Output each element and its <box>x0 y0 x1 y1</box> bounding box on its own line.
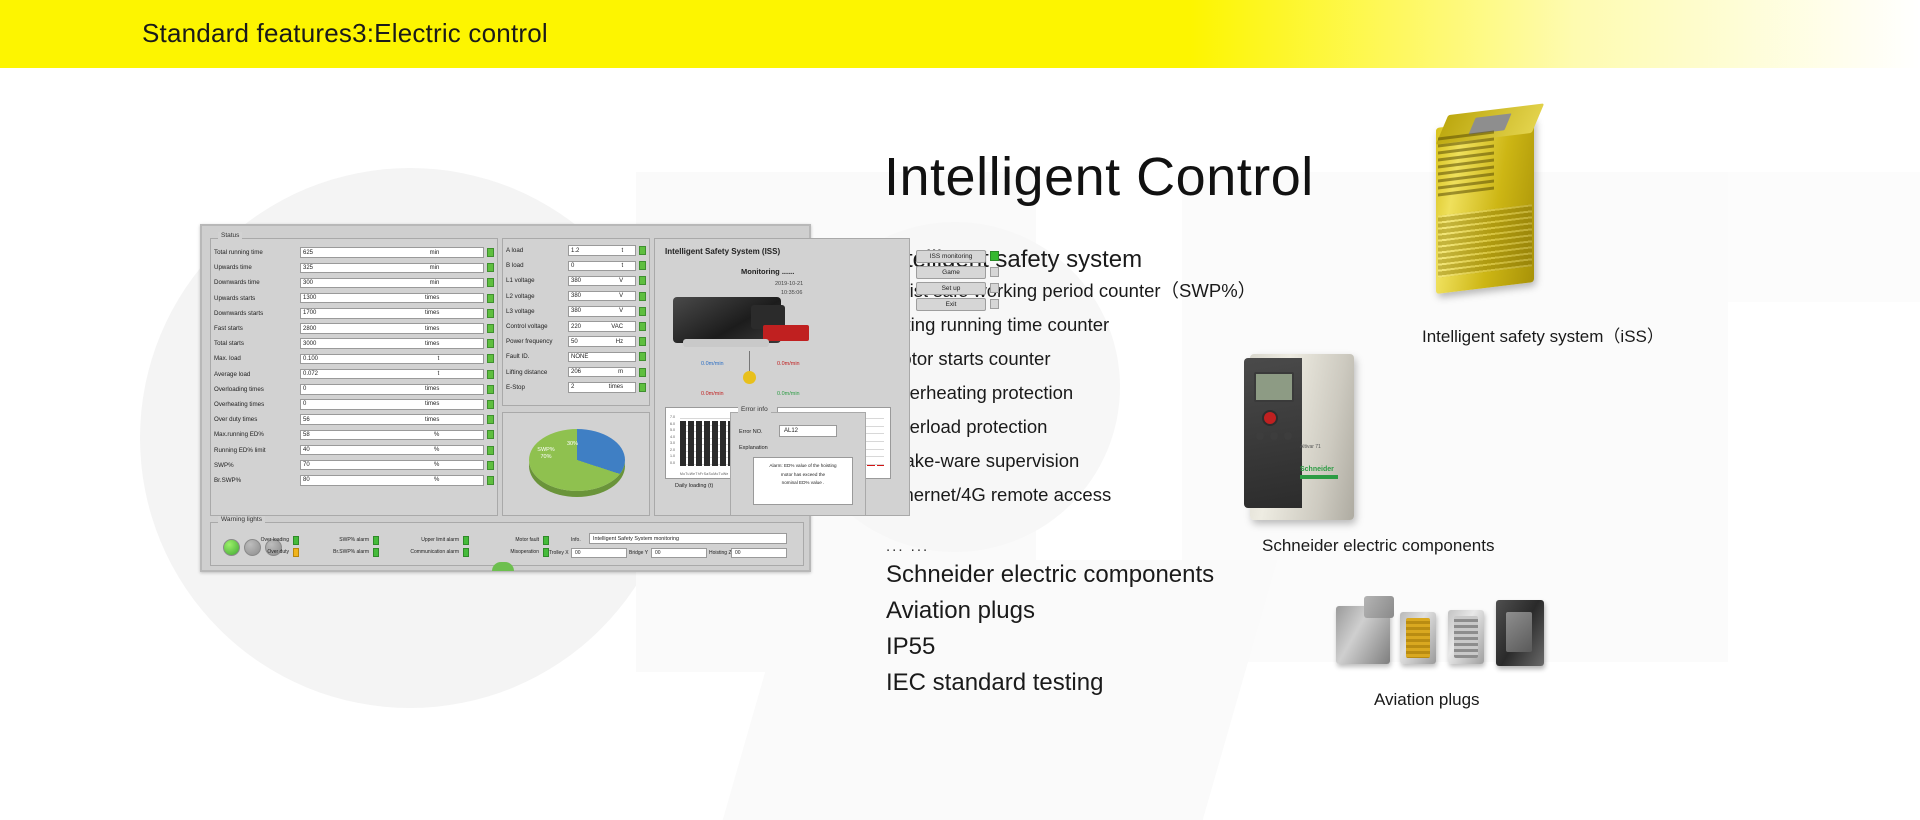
hmi-panel: Status Total running time625minUpwards t… <box>200 224 811 572</box>
caption-schneider: Schneider electric components <box>1262 536 1494 556</box>
spec-item: IEC standard testing <box>886 671 1214 695</box>
error-explanation-line: Alarm: ED% value of the hoisting <box>758 462 848 471</box>
status-row: E-Stop2times <box>506 380 646 395</box>
status-value[interactable]: 3000times <box>300 338 484 349</box>
status-value-text: 300 <box>303 280 313 286</box>
error-no-value[interactable]: AL12 <box>779 425 837 437</box>
warning-group-label: Warning lights <box>218 516 265 523</box>
status-unit: Hz <box>616 339 623 345</box>
status-value[interactable]: 0times <box>300 384 484 395</box>
speed-up-right: 0.0m/min <box>777 361 800 367</box>
status-label: Control voltage <box>506 323 568 330</box>
status-label: Power frequency <box>506 338 568 345</box>
status-value-text: 1.2 <box>571 248 579 254</box>
status-value-text: 380 <box>571 308 581 314</box>
plug-4-insert <box>1506 612 1532 652</box>
vfd-brand-text: Schneider <box>1300 466 1334 473</box>
status-label: Average load <box>214 371 300 378</box>
status-value-text: 380 <box>571 293 581 299</box>
vfd-brand-bar <box>1300 475 1338 479</box>
status-value[interactable]: 1300times <box>300 293 484 304</box>
status-led-icon <box>487 309 494 318</box>
iss-panel-title: Intelligent Safety System (ISS) <box>665 247 780 256</box>
status-value[interactable]: 220VAC <box>568 321 636 332</box>
status-value[interactable]: 206m <box>568 367 636 378</box>
hmi-button-game[interactable]: Game <box>916 266 986 279</box>
status-value[interactable]: 380V <box>568 276 636 287</box>
status-unit: min <box>430 250 440 256</box>
status-led-icon <box>487 278 494 287</box>
pie-label-green: SWP%70% <box>529 447 563 460</box>
status-value-text: 625 <box>303 250 313 256</box>
status-led-icon <box>487 430 494 439</box>
status-value-text: 0.100 <box>303 356 318 362</box>
position-field-label: Trolley X <box>549 550 569 556</box>
status-unit: % <box>434 432 439 438</box>
speed-dn-left: 0.0m/min <box>701 391 724 397</box>
status-label: Running ED% limit <box>214 447 300 454</box>
warning-led-icon <box>373 548 379 557</box>
status-unit: m <box>618 369 623 375</box>
status-unit: min <box>430 280 440 286</box>
status-value[interactable]: 300min <box>300 278 484 289</box>
status-unit: % <box>434 462 439 468</box>
position-field-value[interactable]: 00 <box>731 548 787 558</box>
feature-item: Lifting running time counter <box>886 316 1366 335</box>
status-unit: times <box>425 417 439 423</box>
status-value-text: 325 <box>303 265 313 271</box>
status-label: Lifting distance <box>506 369 568 376</box>
chart-ytick: 0.0 <box>670 461 675 465</box>
status-led-icon <box>487 476 494 485</box>
plug-1-cap <box>1364 596 1394 618</box>
status-led-icon <box>639 322 646 331</box>
status-value[interactable]: 380V <box>568 291 636 302</box>
status-unit: times <box>609 384 623 390</box>
status-led-icon <box>487 263 494 272</box>
status-unit: times <box>425 341 439 347</box>
status-value-text: 0 <box>303 386 306 392</box>
status-value[interactable]: 1700times <box>300 308 484 319</box>
product-iss-module <box>1418 104 1558 300</box>
status-value[interactable]: 50Hz <box>568 336 636 347</box>
chart-bar <box>712 421 718 466</box>
status-row: Power frequency50Hz <box>506 334 646 349</box>
status-row: Total running time625min <box>214 245 494 260</box>
ellipsis-text: ... ... <box>886 538 929 555</box>
hoist-redbox <box>763 325 809 341</box>
status-led-icon <box>487 385 494 394</box>
warning-label: Over duty <box>229 549 289 555</box>
chart-bar <box>720 421 726 466</box>
status-unit: t <box>621 248 623 254</box>
chart-ytick: 2.0 <box>670 448 675 452</box>
status-value[interactable]: 0t <box>568 261 636 272</box>
status-row: Br.SWP%80% <box>214 473 494 488</box>
warning-led-icon <box>463 548 469 557</box>
product-schneider-vfd: Altivar 71 Schneider <box>1240 348 1370 524</box>
status-label: B load <box>506 262 568 269</box>
chart-ytick: 6.0 <box>670 422 675 426</box>
error-explanation-line: nominal ED% value . <box>758 479 848 488</box>
warning-led-icon <box>293 536 299 545</box>
caption-iss: Intelligent safety system（iSS） <box>1422 322 1664 347</box>
status-row: Upwards starts1300times <box>214 291 494 306</box>
status-value-text: 0 <box>571 263 574 269</box>
warning-lights-group: Warning lights Over loadingOver dutySWP%… <box>210 522 804 566</box>
status-row: L1 voltage380V <box>506 273 646 288</box>
status-value[interactable]: 70% <box>300 460 484 471</box>
status-led-icon <box>487 370 494 379</box>
page-title: Intelligent Control <box>884 146 1314 208</box>
vfd-button-1 <box>1256 432 1264 440</box>
scroll-thumb[interactable] <box>492 562 514 571</box>
status-value[interactable]: 0.100t <box>300 354 484 365</box>
status-label: A load <box>506 247 568 254</box>
status-led-icon <box>487 354 494 363</box>
status-label: Total starts <box>214 340 300 347</box>
status-label: L2 voltage <box>506 293 568 300</box>
warning-label: Misoperation <box>479 549 539 555</box>
status-label: Fast starts <box>214 325 300 332</box>
status-unit: times <box>425 295 439 301</box>
status-value-text: 40 <box>303 447 310 453</box>
chart-bar <box>696 421 702 466</box>
chart-ytick: 3.0 <box>670 441 675 445</box>
status-led-icon <box>639 261 646 270</box>
status-label: Overloading times <box>214 386 300 393</box>
vfd-display <box>1254 372 1294 402</box>
status-left-rows: Total running time625minUpwards time325m… <box>211 239 497 488</box>
status-led-icon <box>487 415 494 424</box>
status-row: Fault ID.NONE <box>506 349 646 364</box>
status-led-icon <box>639 246 646 255</box>
status-led-icon <box>487 248 494 257</box>
status-row: Downwards time300min <box>214 275 494 290</box>
status-group-label: Status <box>218 232 242 239</box>
vfd-button-2 <box>1270 432 1278 440</box>
hmi-button-led-icon <box>990 283 999 293</box>
plug-2-insert <box>1406 618 1430 658</box>
status-value[interactable]: 58% <box>300 430 484 441</box>
status-led-icon <box>639 337 646 346</box>
status-unit: % <box>434 477 439 483</box>
status-led-icon <box>487 294 494 303</box>
status-value[interactable]: 1.2t <box>568 245 636 256</box>
status-value-text: 3000 <box>303 341 316 347</box>
position-field-value[interactable]: 00 <box>651 548 707 558</box>
status-row: L3 voltage380V <box>506 304 646 319</box>
status-label: Over duty times <box>214 416 300 423</box>
status-right-rows: A load1.2tB load0tL1 voltage380VL2 volta… <box>503 239 649 395</box>
status-value-text: 80 <box>303 477 310 483</box>
status-row: Overheating times0times <box>214 397 494 412</box>
chart-ytick: 1.0 <box>670 454 675 458</box>
status-unit: times <box>425 386 439 392</box>
status-row: Control voltage220VAC <box>506 319 646 334</box>
hmi-button-iss-monitoring[interactable]: ISS monitoring <box>916 250 986 263</box>
status-row: Total starts3000times <box>214 336 494 351</box>
status-led-icon <box>639 276 646 285</box>
status-row: B load0t <box>506 258 646 273</box>
spec-list: Schneider electric componentsAviation pl… <box>886 563 1214 707</box>
status-value-text: 56 <box>303 417 310 423</box>
chart-ytick: 5.0 <box>670 428 675 432</box>
status-unit: VAC <box>611 324 623 330</box>
error-group-label: Error info <box>738 406 771 413</box>
status-value-text: 2 <box>571 384 574 390</box>
status-unit: t <box>621 263 623 269</box>
warning-label: Over loading <box>229 537 289 543</box>
speed-up-left: 0.0m/min <box>701 361 724 367</box>
status-unit: t <box>438 356 440 362</box>
vfd-knob <box>1262 410 1278 426</box>
info-label: Info. <box>571 537 581 543</box>
status-row: Upwards time325min <box>214 260 494 275</box>
status-unit: % <box>434 447 439 453</box>
chart-bar <box>867 465 874 466</box>
error-no-label: Error NO. <box>739 429 763 435</box>
status-row: Running ED% limit40% <box>214 442 494 457</box>
spec-item: IP55 <box>886 635 1214 659</box>
status-led-icon <box>639 352 646 361</box>
hook-icon <box>743 371 756 384</box>
chart-bar <box>704 421 710 466</box>
status-unit: V <box>619 293 623 299</box>
status-row: Lifting distance206m <box>506 365 646 380</box>
status-group: Status Total running time625minUpwards t… <box>210 238 498 516</box>
status-row: SWP%70% <box>214 458 494 473</box>
status-value[interactable]: 2800times <box>300 323 484 334</box>
status-unit: times <box>425 326 439 332</box>
status-label: L1 voltage <box>506 277 568 284</box>
status-led-icon <box>639 307 646 316</box>
swp-pie-chart: 30% SWP%70% <box>502 412 650 516</box>
status-value[interactable]: 0.072t <box>300 369 484 380</box>
monitoring-label: Monitoring ...... <box>741 267 794 276</box>
status-row: Max. load0.100t <box>214 351 494 366</box>
status-unit: min <box>430 265 440 271</box>
chart-bar <box>688 421 694 466</box>
error-explanation-box: Alarm: ED% value of the hoistingmotor ha… <box>753 457 853 505</box>
daily-loading-caption: Daily loading (t) <box>675 483 713 489</box>
status-value-text: 206 <box>571 369 581 375</box>
chart-ytick: 7.0 <box>670 415 675 419</box>
status-label: Upwards starts <box>214 295 300 302</box>
error-explanation-label: Explanation <box>739 445 768 451</box>
status-value[interactable]: 56times <box>300 414 484 425</box>
status-label: Max.running ED% <box>214 431 300 438</box>
status-label: E-Stop <box>506 384 568 391</box>
error-explanation-line: motor has exceed the <box>758 471 848 480</box>
status-row: L2 voltage380V <box>506 289 646 304</box>
hmi-button-led-icon <box>990 267 999 277</box>
status-unit: times <box>425 310 439 316</box>
status-row: Downwards starts1700times <box>214 306 494 321</box>
top-banner: Standard features3:Electric control <box>0 0 1920 68</box>
monitoring-time: 10:35:06 <box>781 290 802 296</box>
banner-title: Standard features3:Electric control <box>142 18 548 49</box>
warning-led-icon <box>373 536 379 545</box>
status-row: Over duty times56times <box>214 412 494 427</box>
product-aviation-plugs <box>1330 592 1580 682</box>
status-value-text: 50 <box>571 339 578 345</box>
status-label: Downwards starts <box>214 310 300 317</box>
hmi-button-set-up[interactable]: Set up <box>916 282 986 295</box>
status-row: Fast starts2800times <box>214 321 494 336</box>
position-field-value[interactable]: 00 <box>571 548 627 558</box>
status-value-text: 1300 <box>303 295 316 301</box>
pie-label-blue: 30% <box>567 441 578 447</box>
status-value-text: 70 <box>303 462 310 468</box>
warning-led-icon <box>543 536 549 545</box>
position-field-label: Bridge Y <box>629 550 648 556</box>
status-led-icon <box>639 292 646 301</box>
iss-grill <box>1438 204 1532 278</box>
status-label: Overheating times <box>214 401 300 408</box>
plug-3-insert <box>1454 616 1478 658</box>
status-label: SWP% <box>214 462 300 469</box>
chart-bar <box>680 421 686 466</box>
warning-label: Upper limit alarm <box>399 537 459 543</box>
status-label: Downwards time <box>214 279 300 286</box>
status-value[interactable]: 40% <box>300 445 484 456</box>
status-value-text: 58 <box>303 432 310 438</box>
status-led-icon <box>487 339 494 348</box>
status-value-text: 1700 <box>303 310 316 316</box>
status-value[interactable]: NONE <box>568 352 636 363</box>
vfd-model-text: Altivar 71 <box>1300 444 1321 450</box>
status-label: L3 voltage <box>506 308 568 315</box>
status-label: Fault ID. <box>506 353 568 360</box>
status-led-icon <box>487 446 494 455</box>
hmi-button-led-icon <box>990 251 999 261</box>
status-led-icon <box>639 368 646 377</box>
status-value[interactable]: 380V <box>568 306 636 317</box>
status-right-group: A load1.2tB load0tL1 voltage380VL2 volta… <box>502 238 650 406</box>
status-label: Upwards time <box>214 264 300 271</box>
status-label: Total running time <box>214 249 300 256</box>
status-value-text: 2800 <box>303 326 316 332</box>
status-unit: t <box>438 371 440 377</box>
status-value-text: NONE <box>571 354 588 360</box>
status-value[interactable]: 0times <box>300 399 484 410</box>
hoist-rail <box>683 339 769 347</box>
status-value[interactable]: 80% <box>300 475 484 486</box>
vfd-button-3 <box>1284 432 1292 440</box>
status-value[interactable]: 625min <box>300 247 484 258</box>
status-value-text: 220 <box>571 324 581 330</box>
status-value-text: 380 <box>571 278 581 284</box>
speed-dn-right: 0.0m/min <box>777 391 800 397</box>
status-unit: times <box>425 401 439 407</box>
hook-line <box>749 351 750 373</box>
status-led-icon <box>487 461 494 470</box>
status-value-text: 0 <box>303 401 306 407</box>
background-rect-far <box>1728 172 1920 302</box>
status-value[interactable]: 325min <box>300 263 484 274</box>
status-unit: V <box>619 308 623 314</box>
warning-label: Motor fault <box>479 537 539 543</box>
status-led-icon <box>487 324 494 333</box>
monitoring-date: 2019-10-21 <box>775 281 803 287</box>
spec-item: Schneider electric components <box>886 563 1214 587</box>
warning-label: SWP% alarm <box>309 537 369 543</box>
warning-led-icon <box>463 536 469 545</box>
spec-item: Aviation plugs <box>886 599 1214 623</box>
status-row: Overloading times0times <box>214 382 494 397</box>
status-row: Max.running ED%58% <box>214 427 494 442</box>
chart-ytick: 4.0 <box>670 435 675 439</box>
chart-bar <box>877 465 884 466</box>
status-value-text: 0.072 <box>303 371 318 377</box>
warning-led-icon <box>293 548 299 557</box>
status-label: Br.SWP% <box>214 477 300 484</box>
status-led-icon <box>639 383 646 392</box>
status-row: A load1.2t <box>506 243 646 258</box>
info-value[interactable]: Intelligent Safety System monitoring <box>589 533 787 544</box>
warning-label: Br.SWP% alarm <box>309 549 369 555</box>
status-label: Max. load <box>214 355 300 362</box>
status-value[interactable]: 2times <box>568 382 636 393</box>
status-row: Average load0.072t <box>214 367 494 382</box>
error-info-group: Error info Error NO. AL12 Explanation Al… <box>730 412 866 516</box>
warning-label: Communication alarm <box>399 549 459 555</box>
status-unit: V <box>619 278 623 284</box>
hmi-button-led-icon <box>990 299 999 309</box>
position-field-label: Hoisting Z <box>709 550 732 556</box>
caption-plugs: Aviation plugs <box>1374 690 1480 710</box>
status-led-icon <box>487 400 494 409</box>
hmi-button-exit[interactable]: Exit <box>916 298 986 311</box>
